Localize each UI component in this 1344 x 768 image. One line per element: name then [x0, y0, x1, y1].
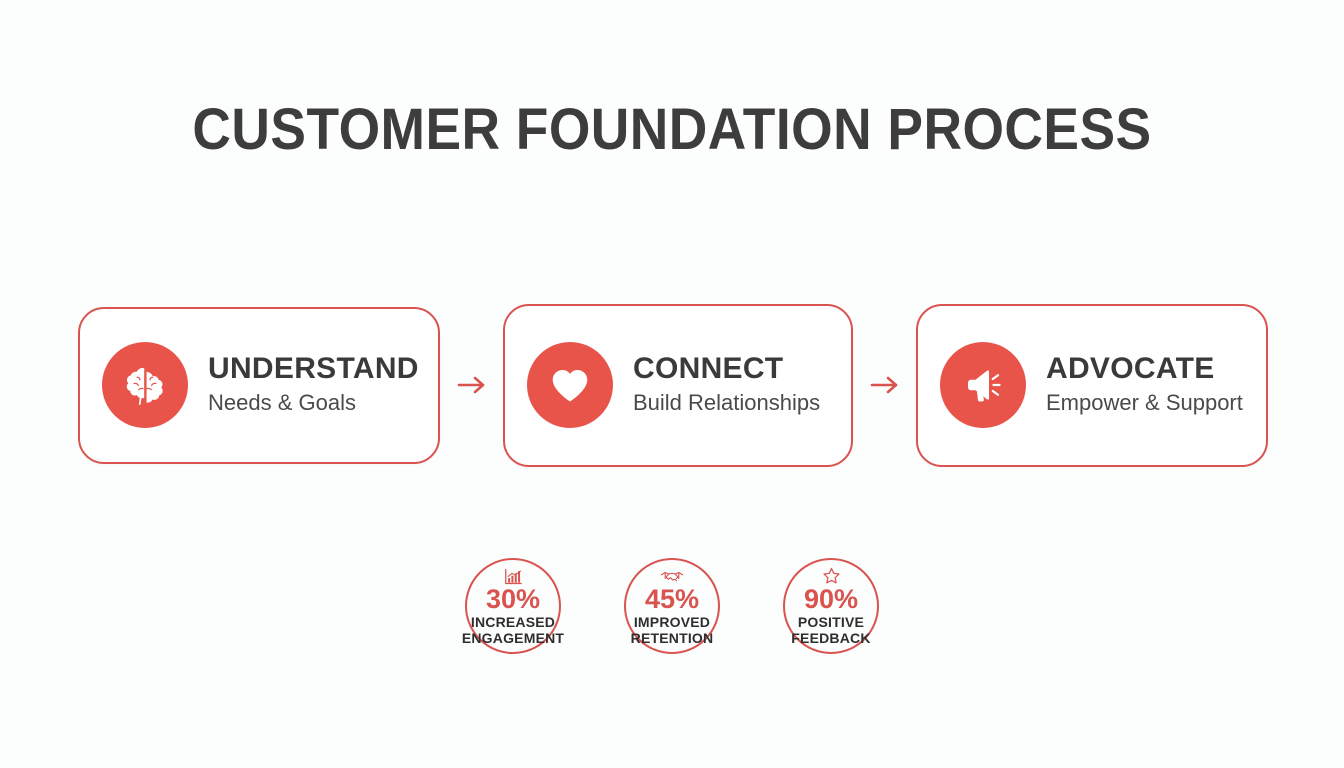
stat-value: 45% [645, 586, 699, 613]
stat-label-line1: INCREASED [471, 614, 555, 630]
stat-value: 30% [486, 586, 540, 613]
stat-label-line1: IMPROVED [634, 614, 710, 630]
step-heading: UNDERSTAND [208, 352, 419, 386]
process-step-understand[interactable]: UNDERSTAND Needs & Goals [78, 307, 440, 464]
stats-row: 30% INCREASED ENGAGEMENT 45% IMPROVED RE… [0, 558, 1344, 654]
bar-chart-growth-icon [504, 565, 523, 585]
stat-increased-engagement[interactable]: 30% INCREASED ENGAGEMENT [465, 558, 561, 654]
stat-label-line2: RETENTION [631, 630, 714, 646]
stat-label-line2: FEEDBACK [791, 630, 870, 646]
step-heading: CONNECT [633, 352, 820, 386]
step-subtitle: Needs & Goals [208, 389, 419, 418]
megaphone-icon [940, 342, 1026, 428]
step-text-group: CONNECT Build Relationships [633, 352, 820, 417]
stat-improved-retention[interactable]: 45% IMPROVED RETENTION [624, 558, 720, 654]
step-subtitle: Build Relationships [633, 389, 820, 418]
step-heading: ADVOCATE [1046, 352, 1243, 386]
process-flow: UNDERSTAND Needs & Goals CONNECT Build R… [78, 300, 1268, 470]
stat-label: INCREASED ENGAGEMENT [462, 615, 564, 646]
process-step-connect[interactable]: CONNECT Build Relationships [503, 304, 853, 467]
stat-label: IMPROVED RETENTION [631, 615, 714, 646]
stat-positive-feedback[interactable]: 90% POSITIVE FEEDBACK [783, 558, 879, 654]
page-title: CUSTOMER FOUNDATION PROCESS [54, 101, 1290, 159]
handshake-icon [660, 565, 684, 585]
step-text-group: ADVOCATE Empower & Support [1046, 352, 1243, 417]
step-text-group: UNDERSTAND Needs & Goals [208, 352, 419, 417]
stat-label-line1: POSITIVE [798, 614, 864, 630]
heart-icon [527, 342, 613, 428]
stat-label: POSITIVE FEEDBACK [791, 615, 870, 646]
arrow-right-icon [450, 373, 494, 397]
step-subtitle: Empower & Support [1046, 389, 1243, 418]
stat-label-line2: ENGAGEMENT [462, 630, 564, 646]
brain-icon [102, 342, 188, 428]
stat-value: 90% [804, 586, 858, 613]
arrow-right-icon [863, 373, 907, 397]
star-outline-icon [822, 565, 841, 585]
process-step-advocate[interactable]: ADVOCATE Empower & Support [916, 304, 1268, 467]
